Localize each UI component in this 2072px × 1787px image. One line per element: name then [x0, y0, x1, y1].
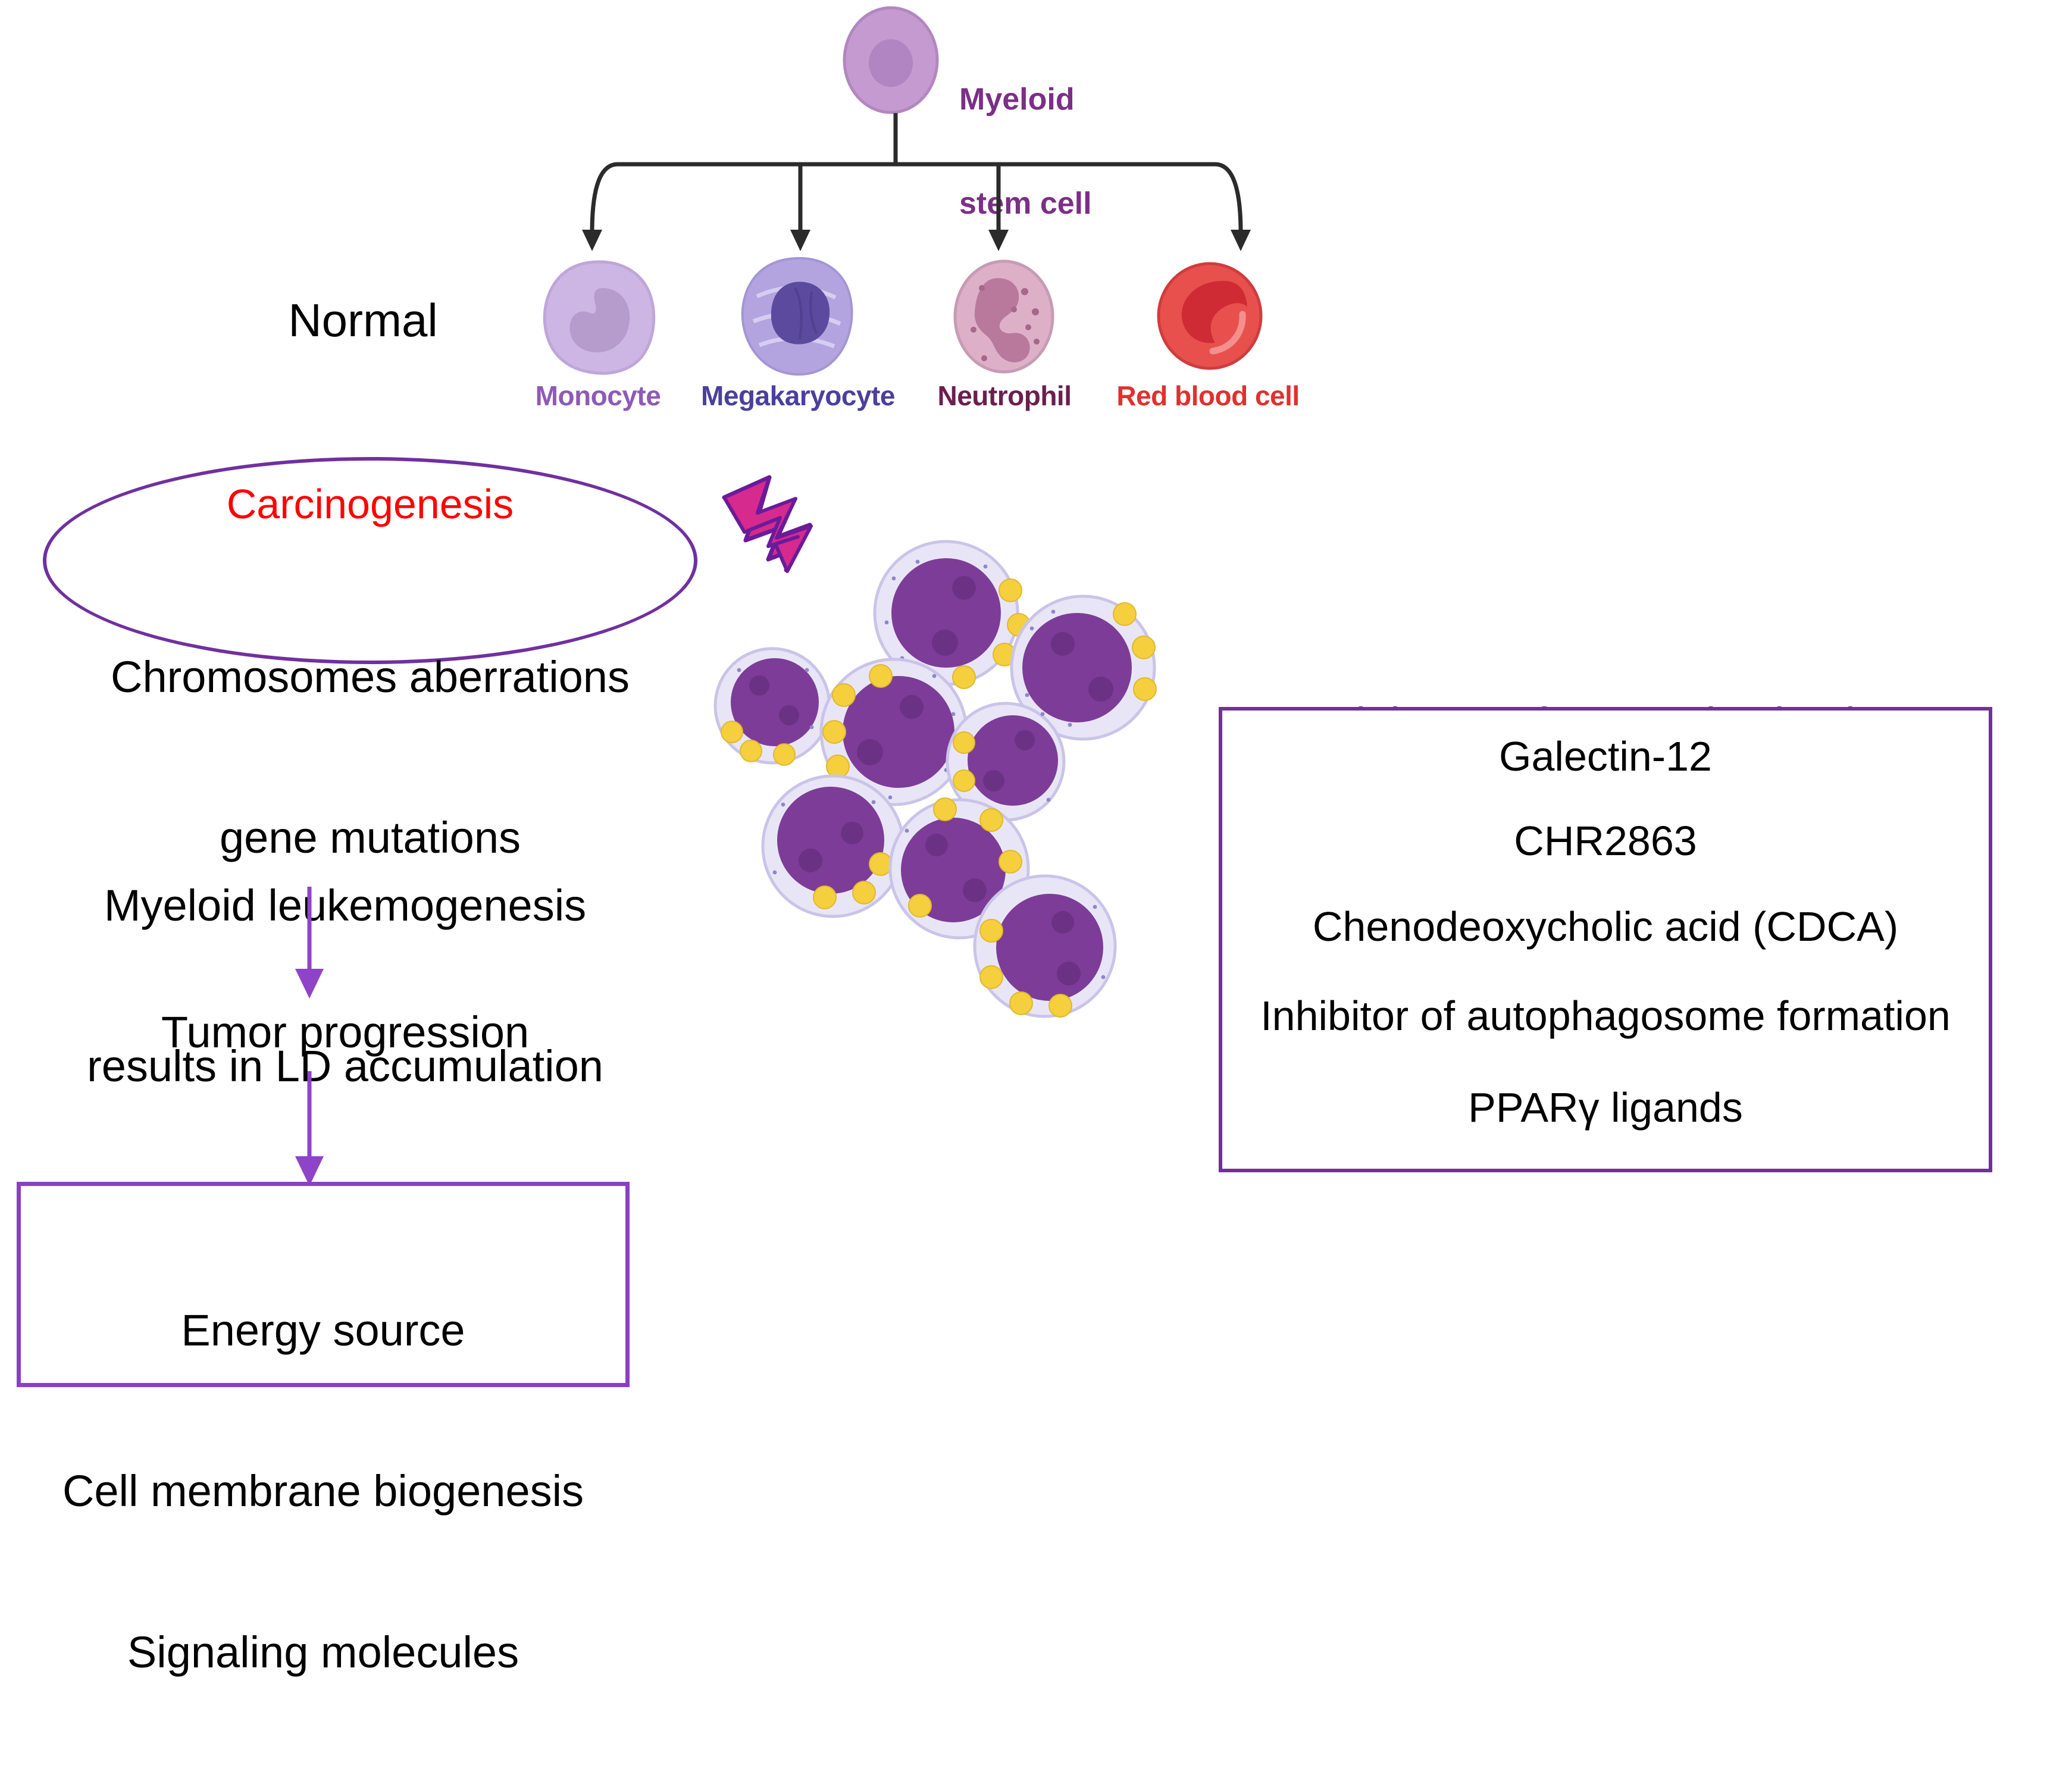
lineage-branch-connector — [571, 113, 1262, 268]
blast-cell — [763, 776, 903, 916]
myeloid-stem-cell-icon — [833, 4, 949, 117]
blast-cell — [715, 649, 830, 765]
tumor-progression-label: Tumor progression — [36, 1006, 655, 1059]
carcinogenesis-heading: Carcinogenesis — [43, 480, 697, 529]
label-red-blood-cell: Red blood cell — [1095, 380, 1321, 412]
leukemic-blast-cluster-icon — [684, 536, 1166, 1018]
modulator-item-1: Galectin-12 — [1219, 732, 1992, 781]
label-megakaryocyte: Megakaryocyte — [682, 380, 914, 412]
diagram-canvas: Myeloid stem cell Normal Myelopoiesis — [0, 0, 2072, 1398]
ld-function-1: Energy source — [17, 1304, 630, 1357]
pathway-arrow-1 — [262, 887, 357, 1000]
pathway-arrow-2 — [262, 1071, 357, 1187]
neutrophil-cell-icon — [947, 257, 1060, 376]
modulator-item-4: Inhibitor of autophagosome formation — [1207, 991, 2004, 1041]
stem-label-line1: Myeloid — [959, 82, 1092, 117]
megakaryocyte-cell-icon — [733, 255, 861, 380]
carcinogenesis-line1: Chromosomes aberrations — [43, 650, 697, 704]
blast-cell — [975, 876, 1115, 1017]
ld-function-3: Signaling molecules — [17, 1626, 630, 1679]
label-neutrophil: Neutrophil — [921, 380, 1088, 412]
monocyte-cell-icon — [536, 257, 663, 376]
modulator-item-5: PPARγ ligands — [1219, 1083, 1992, 1132]
label-monocyte: Monocyte — [524, 380, 672, 412]
ld-functions-text: Energy source Cell membrane biogenesis S… — [17, 1196, 630, 1787]
modulator-item-2: CHR2863 — [1219, 816, 1992, 866]
ld-function-2: Cell membrane biogenesis — [17, 1464, 630, 1518]
red-blood-cell-icon — [1153, 259, 1266, 373]
modulator-item-3: Chenodeoxycholic acid (CDCA) — [1219, 902, 1992, 952]
normal-title-line1: Normal — [196, 293, 530, 349]
